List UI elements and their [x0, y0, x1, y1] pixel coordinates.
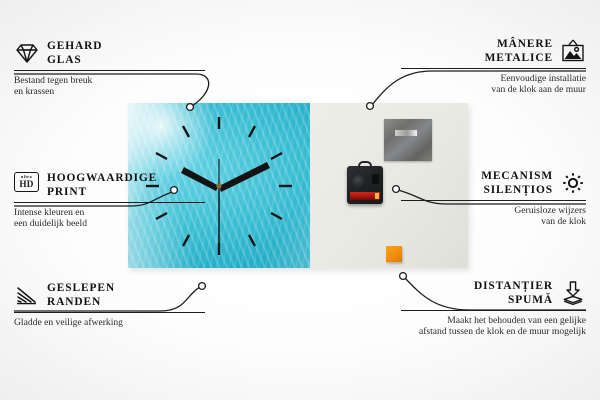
callout-tempered-glass: GEHARD GLAS Bestand tegen breuk en krass… [14, 40, 229, 98]
desc-line-1: Geruisloze wijzers [514, 205, 586, 216]
callout-title: GEHARD GLAS [47, 40, 102, 67]
callout-title: GESLEPEN RANDEN [47, 282, 115, 309]
callout-description: Eenvoudige installatie van de klok aan d… [371, 73, 586, 96]
gear-icon [560, 170, 586, 196]
title-line-1: DISTANȚIER [474, 280, 553, 292]
desc-line-1: Intense kleuren en [14, 207, 84, 218]
title-line-1: MÂNERE [497, 38, 553, 50]
diamond-icon [14, 40, 40, 66]
infographic-stage: GEHARD GLAS Bestand tegen breuk en krass… [0, 0, 600, 400]
title-line-2: SPUMĂ [508, 294, 553, 306]
callout-title: DISTANȚIER SPUMĂ [474, 280, 553, 307]
title-line-2: GLAS [47, 54, 82, 66]
desc-line-1: Bestand tegen breuk [14, 75, 92, 86]
desc-line-2: en krassen [14, 86, 54, 97]
desc-line-2: van de klok [541, 216, 586, 227]
title-line-1: GESLEPEN [47, 282, 115, 294]
callout-head: DISTANȚIER SPUMĂ [371, 280, 586, 307]
callout-description: Geruisloze wijzers van de klok [371, 205, 586, 228]
metal-hanger-plate [384, 119, 432, 161]
callout-title: MECANISM SILENȚIOS [481, 170, 553, 197]
callout-polished-edges: GESLEPEN RANDEN Gladde en veilige afwerk… [14, 282, 229, 328]
title-line-1: MECANISM [481, 170, 553, 182]
title-line-1: GEHARD [47, 40, 102, 52]
callout-divider [14, 312, 205, 313]
ultra-hd-label-main: HD [19, 180, 33, 189]
hanging-picture-icon [560, 38, 586, 64]
callout-head: GEHARD GLAS [14, 40, 229, 67]
desc-line-1: Gladde en veilige afwerking [14, 317, 123, 328]
clock-face [128, 103, 310, 268]
title-line-2: PRINT [47, 186, 87, 198]
callout-head: MÂNERE METALICE [371, 38, 586, 65]
title-line-2: SILENȚIOS [483, 184, 553, 196]
title-line-2: METALICE [485, 52, 553, 64]
foam-spacer [386, 246, 402, 262]
ultra-hd-icon: ultra HD [14, 172, 40, 198]
beveled-edges-icon [14, 282, 40, 308]
desc-line-2: een duidelijk beeld [14, 218, 87, 229]
callout-title: MÂNERE METALICE [485, 38, 553, 65]
ultra-hd-box: ultra HD [14, 172, 39, 192]
callout-divider [14, 70, 205, 71]
clock-hands-and-ticks [128, 103, 310, 268]
callout-description: Gladde en veilige afwerking [14, 317, 229, 329]
callout-head: MECANISM SILENȚIOS [371, 170, 586, 197]
callout-description: Maakt het behouden van een gelijke afsta… [371, 315, 586, 338]
callout-silent-mechanism: MECANISM SILENȚIOS Geruisloze wijzers va… [371, 170, 586, 228]
spacer-down-arrow-icon [560, 280, 586, 306]
callout-head: GESLEPEN RANDEN [14, 282, 229, 309]
title-line-2: RANDEN [47, 296, 101, 308]
mechanism-hanger-lug [358, 161, 372, 168]
callout-description: Bestand tegen breuk en krassen [14, 75, 229, 98]
mechanism-shaft [352, 175, 366, 189]
callout-divider [401, 200, 586, 201]
desc-line-2: afstand tussen de klok en de muur mogeli… [419, 326, 586, 337]
callout-metal-handles: MÂNERE METALICE Eenvoudige installatie v… [371, 38, 586, 96]
callout-divider [401, 68, 586, 69]
desc-line-1: Maakt het behouden van een gelijke [447, 315, 586, 326]
callout-foam-spacer: DISTANȚIER SPUMĂ Maakt het behouden van … [371, 280, 586, 338]
desc-line-2: van de klok aan de muur [491, 84, 586, 95]
desc-line-1: Eenvoudige installatie [500, 73, 586, 84]
callout-divider [401, 310, 586, 311]
